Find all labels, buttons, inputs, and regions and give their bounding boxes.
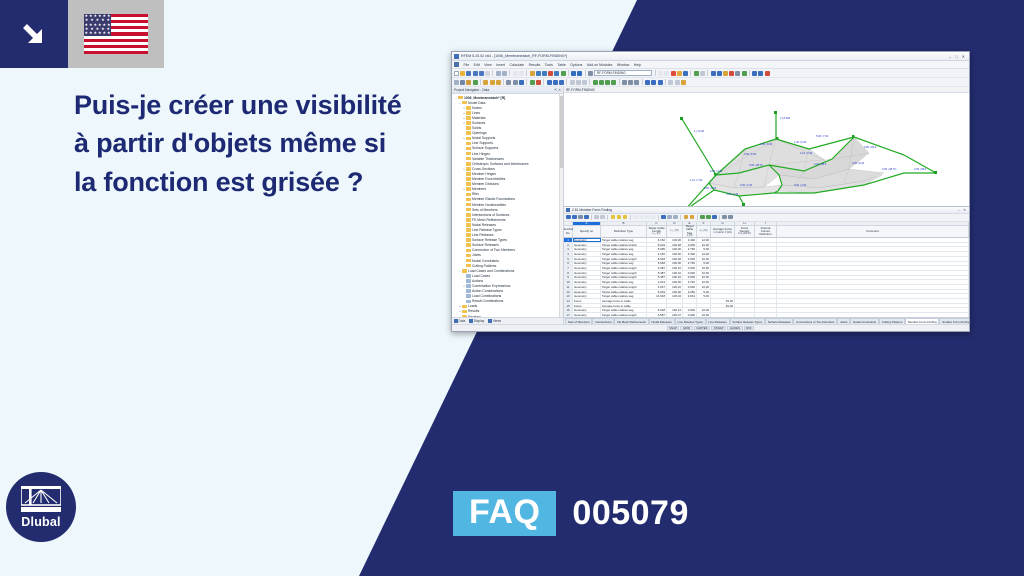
cross-section-icon[interactable]	[519, 80, 524, 85]
menu-item-addon-modules[interactable]: Add-on Modules	[587, 63, 613, 67]
module-combo[interactable]: RF-FORM-FINDING	[594, 70, 652, 76]
table-tab[interactable]: Member Form-Finding	[905, 318, 939, 324]
menu-item-edit[interactable]: Edit	[474, 63, 480, 67]
table-cell[interactable]	[777, 276, 969, 280]
undo-icon[interactable]	[519, 71, 524, 76]
table-cell[interactable]: Geometry	[573, 252, 601, 256]
table-tab[interactable]: Line Release Types	[675, 318, 706, 324]
copy-icon[interactable]	[502, 71, 507, 76]
table-cell[interactable]	[711, 290, 735, 294]
table-cell[interactable]	[777, 280, 969, 284]
table-cell[interactable]: Geometry	[573, 262, 601, 266]
table-cell[interactable]	[735, 308, 755, 312]
menu-item-results[interactable]: Results	[529, 63, 541, 67]
table-cell[interactable]	[777, 238, 969, 242]
table-cell[interactable]: Target cable relative sag	[601, 262, 647, 266]
table-cell[interactable]: 3.044	[683, 294, 697, 298]
trim-icon[interactable]	[622, 80, 627, 85]
table-cell[interactable]: 100.00	[667, 247, 683, 251]
table-cell[interactable]: Geometry	[573, 290, 601, 294]
column-letter[interactable]: I	[755, 222, 777, 226]
table-cell[interactable]: 15	[564, 304, 573, 308]
table-cell[interactable]	[711, 294, 735, 298]
calculate-icon[interactable]	[671, 71, 676, 76]
rotate-icon[interactable]	[599, 80, 604, 85]
table-cell[interactable]	[711, 308, 735, 312]
status-snap[interactable]: SNAP	[667, 326, 680, 331]
table-tab[interactable]: Nodal Releases	[649, 318, 675, 324]
table-cell[interactable]	[777, 308, 969, 312]
table-cell[interactable]	[755, 304, 777, 308]
table-cell[interactable]: 5.487	[647, 276, 667, 280]
table-cell[interactable]: 5.00	[697, 290, 711, 294]
table-cell[interactable]	[697, 299, 711, 303]
table-cell[interactable]	[735, 247, 755, 251]
table-cell[interactable]: 10.00	[697, 266, 711, 270]
table-cell[interactable]	[777, 262, 969, 266]
table-cell[interactable]: 10.00	[697, 280, 711, 284]
node-draw-icon[interactable]	[466, 80, 471, 85]
table-cell[interactable]: 8.918	[647, 257, 667, 261]
table-cell[interactable]: 11	[564, 285, 573, 289]
table-cell[interactable]	[683, 299, 697, 303]
table-cell[interactable]: 100.10	[667, 285, 683, 289]
tree-item[interactable]: Sections	[452, 314, 563, 317]
table-cell[interactable]: Target cable relative length	[601, 243, 647, 247]
table-cell[interactable]: Target cable relative length	[601, 276, 647, 280]
table-tab[interactable]: Surface Release Types	[730, 318, 765, 324]
table-cell[interactable]	[755, 247, 777, 251]
table-cell[interactable]: Average force in cable	[601, 304, 647, 308]
table-cell[interactable]	[711, 252, 735, 256]
table-cell[interactable]: 14.918	[647, 294, 667, 298]
table-cell[interactable]	[735, 290, 755, 294]
table-tab[interactable]: FE Mesh Refinements	[614, 318, 648, 324]
table-cell[interactable]: 100.10	[667, 271, 683, 275]
column-letter[interactable]: F	[697, 222, 711, 226]
status-cartes[interactable]: CARTES	[694, 326, 710, 331]
load-combo-icon[interactable]	[717, 71, 722, 76]
table-cell[interactable]	[697, 304, 711, 308]
navigator-tab-data[interactable]: Data	[454, 319, 465, 323]
table-cell[interactable]	[735, 238, 755, 242]
table-cell[interactable]: Force	[573, 304, 601, 308]
table-cell[interactable]	[711, 243, 735, 247]
scale-icon[interactable]	[611, 80, 616, 85]
navigator-scrollbar[interactable]	[559, 94, 563, 317]
minimize-button[interactable]: –	[949, 54, 951, 59]
table-cell[interactable]	[777, 257, 969, 261]
divide-icon[interactable]	[634, 80, 639, 85]
table-cell[interactable]: Geometry	[573, 285, 601, 289]
table-cell[interactable]: Target cable relative sag	[601, 308, 647, 312]
table-cell[interactable]: 5.048	[647, 262, 667, 266]
table-cell[interactable]: 0.000	[683, 276, 697, 280]
table-cell[interactable]: 12.00	[697, 238, 711, 242]
table-cell[interactable]: 4.152	[647, 252, 667, 256]
table-column-icon[interactable]	[578, 215, 583, 220]
table-paste-icon[interactable]	[639, 215, 644, 220]
table-cell[interactable]: Geometry	[573, 294, 601, 298]
save-icon[interactable]	[466, 71, 471, 76]
table-cell[interactable]	[777, 271, 969, 275]
table-cell[interactable]: 100.00	[667, 280, 683, 284]
table-highlight-icon[interactable]	[611, 215, 616, 220]
table-cell[interactable]	[735, 299, 755, 303]
table-cell[interactable]: Target cable relative length	[601, 257, 647, 261]
paste-icon[interactable]	[513, 71, 518, 76]
table-tab[interactable]: Cutting Patterns	[879, 318, 905, 324]
arc-draw-icon[interactable]	[473, 80, 478, 85]
status-bar[interactable]: SNAP GRID CARTES OSNAP GLINES DXF	[452, 324, 969, 331]
table-cell[interactable]: 8.219	[647, 243, 667, 247]
table-cell[interactable]: 2.760	[683, 247, 697, 251]
table-cell[interactable]: Geometry	[573, 238, 601, 242]
table-cell[interactable]: 3.250	[683, 290, 697, 294]
table-cell[interactable]	[711, 262, 735, 266]
load-case-icon[interactable]	[711, 71, 716, 76]
table-print-icon[interactable]	[690, 215, 695, 220]
mesh-icon[interactable]	[742, 71, 747, 76]
menu-item-help[interactable]: Help	[634, 63, 641, 67]
table-sort-icon[interactable]	[722, 215, 727, 220]
table-cell[interactable]	[777, 290, 969, 294]
table-cell[interactable]	[735, 262, 755, 266]
navigator-toggle-icon[interactable]	[758, 71, 763, 76]
table-delete-icon[interactable]	[651, 215, 656, 220]
table-cell[interactable]: 14	[564, 299, 573, 303]
table-bottom-tabs[interactable]: Sets of MembersIntersectionsFE Mesh Refi…	[564, 317, 969, 324]
hinge-icon[interactable]	[513, 80, 518, 85]
table-cell[interactable]: 8	[564, 271, 573, 275]
table-cell[interactable]	[777, 252, 969, 256]
table-copy-icon[interactable]	[633, 215, 638, 220]
menu-item-insert[interactable]: Insert	[496, 63, 505, 67]
select-icon[interactable]	[454, 80, 459, 85]
table-cell[interactable]: 5.487	[647, 266, 667, 270]
table-cell[interactable]	[647, 304, 667, 308]
table-select-icon[interactable]	[617, 215, 622, 220]
status-glines[interactable]: GLINES	[727, 326, 742, 331]
navigator-tab-views[interactable]: Views	[488, 319, 501, 323]
table-cell[interactable]: 0.000	[683, 285, 697, 289]
table-cell[interactable]: Geometry	[573, 280, 601, 284]
table-cell[interactable]	[711, 271, 735, 275]
table-cell[interactable]: 16	[564, 308, 573, 312]
move-icon[interactable]	[593, 80, 598, 85]
solid-icon[interactable]	[735, 71, 740, 76]
table-cell[interactable]	[735, 271, 755, 275]
table-cell[interactable]: 4.027	[647, 285, 667, 289]
table-cell[interactable]	[755, 280, 777, 284]
table-cell[interactable]: 7	[564, 266, 573, 270]
table-graph-icon[interactable]	[712, 215, 717, 220]
table-cell[interactable]: 100.04	[667, 294, 683, 298]
table-cell[interactable]	[667, 299, 683, 303]
table-cell[interactable]: 0.000	[683, 257, 697, 261]
table-cell[interactable]: 100.10	[667, 276, 683, 280]
module-icon[interactable]	[588, 71, 593, 76]
table-toolbar[interactable]	[564, 214, 969, 222]
table-cell[interactable]	[755, 243, 777, 247]
column-letter[interactable]: D	[667, 222, 683, 226]
table-cell[interactable]	[735, 294, 755, 298]
table-cell[interactable]	[755, 285, 777, 289]
menu-item-window[interactable]: Window	[617, 63, 629, 67]
column-letter[interactable]: B	[601, 222, 647, 226]
table-cell[interactable]	[735, 304, 755, 308]
table-cell[interactable]	[777, 285, 969, 289]
table-cell[interactable]: 0.000	[683, 266, 697, 270]
table-cell[interactable]: Target cable relative sag	[601, 294, 647, 298]
table-next-icon[interactable]	[673, 215, 678, 220]
main-toolbar-row-1[interactable]: RF-FORM-FINDING	[452, 69, 969, 78]
table-cell[interactable]	[755, 257, 777, 261]
zoom-in-icon[interactable]	[536, 71, 541, 76]
table-cell[interactable]: 1	[564, 238, 573, 242]
table-cell[interactable]: 6	[564, 262, 573, 266]
table-cell[interactable]	[735, 266, 755, 270]
menu-item-file[interactable]: File	[464, 63, 470, 67]
print-preview-icon[interactable]	[485, 71, 490, 76]
table-cell[interactable]: 10.00	[697, 243, 711, 247]
table-cell[interactable]: 10.00	[697, 257, 711, 261]
next-icon[interactable]	[664, 71, 669, 76]
navigator-tree[interactable]: −1006_Membranedach* [R]−Model Data+Nodes…	[452, 94, 563, 317]
table-cell[interactable]	[777, 266, 969, 270]
member-icon[interactable]	[723, 71, 728, 76]
table-cell[interactable]: Average force in cable	[601, 299, 647, 303]
comment-icon[interactable]	[576, 80, 581, 85]
table-cell[interactable]	[755, 266, 777, 270]
column-letter[interactable]	[564, 222, 573, 226]
table-cell[interactable]	[755, 262, 777, 266]
table-cell[interactable]: Target cable relative sag	[601, 247, 647, 251]
table-cell[interactable]: 5.00	[697, 262, 711, 266]
table-cell[interactable]: 100.00	[667, 262, 683, 266]
table-cell[interactable]	[711, 276, 735, 280]
column-letter[interactable]: G	[711, 222, 735, 226]
table-window-controls[interactable]: – ✕	[958, 208, 967, 212]
table-tab[interactable]: Connections of Two Members	[793, 318, 837, 324]
navigator-tab-display[interactable]: Display	[469, 319, 484, 323]
table-find-icon[interactable]	[728, 215, 733, 220]
table-cell[interactable]: 100.00	[667, 252, 683, 256]
results-icon[interactable]	[677, 71, 682, 76]
table-cell[interactable]: Target cable relative sag	[601, 238, 647, 242]
solid-draw-icon[interactable]	[496, 80, 501, 85]
extend-icon[interactable]	[628, 80, 633, 85]
table-cell[interactable]: 10.00	[697, 276, 711, 280]
window-controls[interactable]: – □ ✕	[949, 54, 967, 59]
table-cell[interactable]	[735, 243, 755, 247]
menu-item-calculate[interactable]: Calculate	[509, 63, 524, 67]
table-check-icon[interactable]	[706, 215, 711, 220]
status-dxf[interactable]: DXF	[744, 326, 755, 331]
menu-bar[interactable]: File Edit View Insert Calculate Results …	[452, 61, 969, 69]
table-cell[interactable]	[777, 294, 969, 298]
info-icon[interactable]	[681, 80, 686, 85]
maximize-button[interactable]: □	[955, 54, 957, 59]
table-cell[interactable]: 0.000	[683, 271, 697, 275]
units-icon[interactable]	[675, 80, 680, 85]
surface-draw-icon[interactable]	[483, 80, 488, 85]
table-cell[interactable]: 100.00	[667, 238, 683, 242]
menu-item-table[interactable]: Table	[557, 63, 565, 67]
help-toolbar-icon[interactable]	[765, 71, 770, 76]
table-cell[interactable]: Geometry	[573, 308, 601, 312]
table-cell[interactable]: 100.14	[667, 308, 683, 312]
column-letter[interactable]: H	[735, 222, 755, 226]
table-cell[interactable]: 0.000	[683, 308, 697, 312]
table-cell[interactable]: 5	[564, 257, 573, 261]
table-cell[interactable]	[755, 308, 777, 312]
table-cell[interactable]	[777, 299, 969, 303]
table-cell[interactable]	[711, 280, 735, 284]
table-cell[interactable]: 45.00	[711, 299, 735, 303]
table-cell[interactable]: 100.10	[667, 266, 683, 270]
table-cell[interactable]	[667, 304, 683, 308]
close-button[interactable]: ✕	[962, 54, 965, 59]
table-cell[interactable]	[755, 271, 777, 275]
save-all-icon[interactable]	[473, 71, 478, 76]
table-cut-icon[interactable]	[645, 215, 650, 220]
table-tab[interactable]: Surface Form-Finding	[939, 318, 969, 324]
table-cell[interactable]	[755, 290, 777, 294]
table-cell[interactable]: 2.013	[647, 280, 667, 284]
table-cell[interactable]: 9	[564, 276, 573, 280]
table-cell[interactable]	[683, 304, 697, 308]
table-cell[interactable]: 4.152	[647, 238, 667, 242]
table-cell[interactable]: 5.095	[647, 247, 667, 251]
table-cell[interactable]: 2.760	[683, 262, 697, 266]
redo-icon[interactable]	[530, 71, 535, 76]
table-cell[interactable]: 5.033	[647, 290, 667, 294]
table-cell[interactable]: 3.400	[683, 252, 697, 256]
main-toolbar-row-2[interactable]	[452, 78, 969, 87]
open-file-icon[interactable]	[460, 71, 465, 76]
table-cell[interactable]: 10.00	[697, 285, 711, 289]
table-cell[interactable]: 3.400	[683, 238, 697, 242]
table-tab[interactable]: Line Releases	[706, 318, 730, 324]
table-cell[interactable]: 0.000	[683, 243, 697, 247]
table-edit-icon[interactable]	[566, 215, 571, 220]
status-osnap[interactable]: OSNAP	[711, 326, 726, 331]
opening-draw-icon[interactable]	[490, 80, 495, 85]
table-cell[interactable]	[711, 285, 735, 289]
table-settings-icon[interactable]	[572, 215, 577, 220]
thickness-icon[interactable]	[536, 80, 541, 85]
table-cell[interactable]: 10.00	[697, 271, 711, 275]
table-cell[interactable]: 100.00	[667, 290, 683, 294]
table-cell[interactable]	[755, 294, 777, 298]
table-cell[interactable]	[755, 238, 777, 242]
render-icon[interactable]	[561, 71, 566, 76]
model-viewport[interactable]: 1 | 14.00 2 | 8.000 4.00 | 9.00 1.40 | 6…	[564, 93, 969, 206]
table-tab[interactable]: Nodal Constraints	[850, 318, 879, 324]
table-cell[interactable]: Target cable relative sag	[601, 290, 647, 294]
menu-item-options[interactable]: Options	[570, 63, 582, 67]
table-cell[interactable]: Geometry	[573, 243, 601, 247]
table-cell[interactable]: 10.00	[697, 308, 711, 312]
table-rows[interactable]: 1GeometryTarget cable relative sag4.1521…	[564, 238, 969, 317]
table-cell[interactable]: Target cable relative sag	[601, 280, 647, 284]
table-cell[interactable]: 100.28	[667, 243, 683, 247]
table-cell[interactable]	[735, 257, 755, 261]
table-prev-icon[interactable]	[667, 215, 672, 220]
column-letter[interactable]: A	[573, 222, 601, 226]
table-cell[interactable]	[735, 276, 755, 280]
table-cell[interactable]	[735, 252, 755, 256]
guideline-icon[interactable]	[582, 80, 587, 85]
table-cell[interactable]: 45.00	[711, 304, 735, 308]
table-toggle-icon[interactable]	[752, 71, 757, 76]
table-cell[interactable]	[711, 247, 735, 251]
cut-icon[interactable]	[496, 71, 501, 76]
table-cell[interactable]: 10	[564, 280, 573, 284]
view-iso-icon[interactable]	[571, 71, 576, 76]
table-cell[interactable]	[755, 276, 777, 280]
table-cell[interactable]	[711, 238, 735, 242]
mirror-icon[interactable]	[605, 80, 610, 85]
table-tab[interactable]: Surface Releases	[765, 318, 793, 324]
zoom-out-icon[interactable]	[542, 71, 547, 76]
menu-item-tools[interactable]: Tools	[545, 63, 553, 67]
table-filter-icon[interactable]	[584, 215, 589, 220]
table-cell[interactable]: Force	[573, 299, 601, 303]
table-cell[interactable]	[647, 299, 667, 303]
table-cell[interactable]: 5.00	[697, 247, 711, 251]
table-cell[interactable]	[755, 299, 777, 303]
table-cell[interactable]: 5.487	[647, 271, 667, 275]
table-cell[interactable]	[777, 304, 969, 308]
layer-icon[interactable]	[651, 80, 656, 85]
settings-icon[interactable]	[668, 80, 673, 85]
table-cell[interactable]: Geometry	[573, 266, 601, 270]
table-cell[interactable]	[755, 252, 777, 256]
column-letter[interactable]: C	[647, 222, 667, 226]
table-cell[interactable]: 12.00	[697, 252, 711, 256]
visibility-icon[interactable]	[645, 80, 650, 85]
table-import-icon[interactable]	[600, 215, 605, 220]
line-draw-icon[interactable]	[460, 80, 465, 85]
table-mark-icon[interactable]	[623, 215, 628, 220]
table-cell[interactable]: Geometry	[573, 247, 601, 251]
table-cell[interactable]: 6.918	[647, 308, 667, 312]
table-tab[interactable]: Intersections	[592, 318, 614, 324]
table-cell[interactable]: Target cable relative sag	[601, 252, 647, 256]
table-cell[interactable]: Geometry	[573, 257, 601, 261]
grid-snap-icon[interactable]	[700, 71, 705, 76]
table-cell[interactable]: Geometry	[573, 271, 601, 275]
support-icon[interactable]	[506, 80, 511, 85]
material-icon[interactable]	[530, 80, 535, 85]
table-cell[interactable]: 13	[564, 294, 573, 298]
table-first-icon[interactable]	[661, 215, 666, 220]
table-export-icon[interactable]	[594, 215, 599, 220]
load-nodal-icon[interactable]	[547, 80, 552, 85]
print-icon[interactable]	[479, 71, 484, 76]
status-grid[interactable]: GRID	[680, 326, 692, 331]
load-surface-icon[interactable]	[559, 80, 564, 85]
load-line-icon[interactable]	[553, 80, 558, 85]
dimension-icon[interactable]	[570, 80, 575, 85]
group-icon[interactable]	[658, 80, 663, 85]
table-cell[interactable]: 4	[564, 252, 573, 256]
graphic-icon[interactable]	[683, 71, 688, 76]
table-cell[interactable]: 3.740	[683, 280, 697, 284]
table-cell[interactable]: 2	[564, 243, 573, 247]
